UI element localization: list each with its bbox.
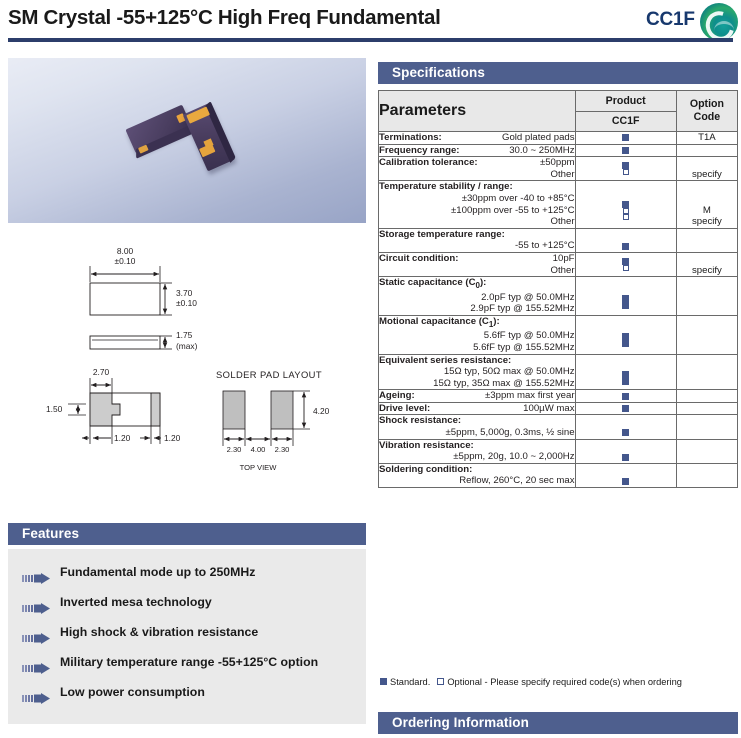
option-code-cell: [676, 415, 737, 439]
parameter-value: ±3ppm max first year: [485, 390, 575, 402]
arrow-bullet-icon: [22, 631, 52, 642]
parameter-label-line: Soldering condition:: [379, 464, 575, 476]
feature-item: Inverted mesa technology: [8, 593, 366, 622]
feature-item: Fundamental mode up to 250MHz: [8, 563, 366, 592]
option-code-cell: [676, 439, 737, 463]
option-code-cell: [676, 315, 737, 354]
option-code-cell: T1A: [676, 132, 737, 145]
parameter-cell: Vibration resistance:±5ppm, 20g, 10.0 ~ …: [379, 439, 576, 463]
col-header-product-variant: CC1F: [575, 111, 676, 132]
option-code-cell: Mspecify: [676, 181, 737, 228]
standard-mark-icon: [622, 302, 629, 309]
features-band: Features: [8, 523, 366, 545]
parameter-label-line: Drive level:100µW max: [379, 403, 575, 415]
option-code-cell: specify: [676, 157, 737, 181]
parameter-value: 10pF: [553, 253, 575, 265]
table-row: Circuit condition:10pFOther specify: [379, 252, 738, 276]
dim-thickness-note: (max): [176, 341, 198, 351]
feature-item: Low power consumption: [8, 683, 366, 712]
parameter-cell: Motional capacitance (C1):5.6fF typ @ 50…: [379, 315, 576, 354]
product-mark-cell: [575, 132, 676, 145]
product-mark-cell: [575, 390, 676, 403]
option-code-cell: specify: [676, 252, 737, 276]
optional-mark-icon: [437, 678, 444, 685]
dim-gap-1: 1.20: [114, 433, 131, 443]
product-mark-cell: [575, 315, 676, 354]
legend-standard-text: Standard.: [390, 677, 430, 687]
standard-mark-icon: [622, 147, 629, 154]
parameter-label: Drive level:: [379, 403, 430, 414]
parameter-label-line: Equivalent series resistance:: [379, 355, 575, 367]
parameter-label: Terminations:: [379, 132, 442, 143]
parameter-cell: Temperature stability / range:±30ppm ove…: [379, 181, 576, 228]
feature-item-label: Fundamental mode up to 250MHz: [60, 565, 255, 579]
dim-solder-pad-height: 4.20: [313, 406, 330, 416]
mark-spacer: [576, 231, 676, 243]
mark-spacer: [576, 189, 676, 201]
parameter-label: Ageing:: [379, 390, 415, 401]
ordering-information-band: Ordering Information: [378, 712, 738, 734]
feature-item-label: Inverted mesa technology: [60, 595, 212, 609]
mark-spacer: [576, 442, 676, 454]
parameter-sub-value: Other: [379, 169, 575, 181]
parameter-cell: Terminations:Gold plated pads: [379, 132, 576, 145]
parameter-label-line: Ageing:±3ppm max first year: [379, 390, 575, 402]
crystal-side-face: [136, 124, 193, 159]
col-header-option-code: Option Code: [676, 91, 737, 132]
parameter-cell: Frequency range:30.0 ~ 250MHz: [379, 144, 576, 157]
parameter-label-line: Motional capacitance (C1):: [379, 316, 575, 331]
option-code-value: T1A: [677, 132, 737, 144]
parameter-label-line: Temperature stability / range:: [379, 181, 575, 193]
dim-thickness-value: 1.75: [176, 330, 193, 340]
standard-mark-icon: [622, 243, 629, 250]
crystal-package-top: [125, 105, 192, 154]
option-code-value: specify: [677, 265, 737, 277]
part-code-label: CC1F: [646, 9, 695, 31]
dim-solder-pad-w1: 2.30: [227, 445, 242, 454]
parameter-label-line: Vibration resistance:: [379, 440, 575, 452]
product-mark-cell: [575, 402, 676, 415]
page-header: SM Crystal -55+125°C High Freq Fundament…: [0, 0, 741, 46]
solder-pad-view-note: TOP VIEW: [240, 463, 278, 472]
table-row: Shock resistance:±5ppm, 5,000g, 0.3ms, ½…: [379, 415, 738, 439]
table-row: Vibration resistance:±5ppm, 20g, 10.0 ~ …: [379, 439, 738, 463]
solder-pad-title: SOLDER PAD LAYOUT: [216, 369, 322, 380]
feature-item: High shock & vibration resistance: [8, 623, 366, 652]
standard-mark-icon: [622, 162, 629, 169]
standard-mark-icon: [622, 478, 629, 485]
parameter-cell: Static capacitance (C0):2.0pF typ @ 50.0…: [379, 277, 576, 316]
dim-gap-2: 1.20: [164, 433, 181, 443]
parameter-sub-value: 15Ω typ, 50Ω max @ 50.0MHz: [379, 366, 575, 378]
parameter-label: Motional capacitance (C1):: [379, 316, 500, 327]
gold-pad: [199, 143, 215, 157]
mark-spacer: [576, 283, 676, 295]
parameter-sub-value: -55 to +125°C: [379, 240, 575, 252]
option-code-cell: [676, 354, 737, 390]
arrow-bullet-icon: [22, 661, 52, 672]
product-mark-cell: [575, 157, 676, 181]
parameter-sub-value: ±100ppm over -55 to +125°C: [379, 205, 575, 217]
table-row: Motional capacitance (C1):5.6fF typ @ 50…: [379, 315, 738, 354]
standard-mark-icon: [622, 295, 629, 302]
option-code-cell: [676, 402, 737, 415]
option-code-line2: Code: [694, 111, 720, 123]
option-code-value: [677, 253, 737, 265]
option-code-cell: [676, 277, 737, 316]
optional-mark-icon: [623, 265, 629, 271]
option-code-cell: [676, 144, 737, 157]
parameter-label-line: Storage temperature range:: [379, 229, 575, 241]
parameter-sub-value: 5.6fF typ @ 50.0MHz: [379, 330, 575, 342]
table-row: Ageing:±3ppm max first year: [379, 390, 738, 403]
parameter-sub-value: ±5ppm, 20g, 10.0 ~ 2,000Hz: [379, 451, 575, 463]
feature-item-label: High shock & vibration resistance: [60, 625, 258, 639]
legend-optional-text: Optional - Please specify required code(…: [447, 677, 682, 687]
option-code-value: specify: [677, 169, 737, 181]
mark-spacer: [576, 466, 676, 478]
parameter-sub-value: Other: [379, 216, 575, 228]
product-mark-cell: [575, 277, 676, 316]
parameter-value: ±50ppm: [540, 157, 575, 169]
dim-solder-pad-w2: 2.30: [275, 445, 290, 454]
parameter-sub-value: 15Ω typ, 35Ω max @ 155.52MHz: [379, 378, 575, 390]
page-title: SM Crystal -55+125°C High Freq Fundament…: [8, 6, 440, 30]
table-row: Frequency range:30.0 ~ 250MHz: [379, 144, 738, 157]
product-mark-cell: [575, 252, 676, 276]
parameter-label-line: Static capacitance (C0):: [379, 277, 575, 292]
standard-mark-icon: [380, 678, 387, 685]
feature-item-label: Low power consumption: [60, 685, 205, 699]
option-code-value: [677, 181, 737, 193]
company-logo-icon: [700, 3, 738, 41]
specifications-band: Specifications: [378, 62, 738, 84]
parameter-label: Storage temperature range:: [379, 229, 505, 240]
product-mark-cell: [575, 439, 676, 463]
table-row: Terminations:Gold plated padsT1A: [379, 132, 738, 145]
feature-item: Military temperature range -55+125°C opt…: [8, 653, 366, 682]
parameter-label: Shock resistance:: [379, 415, 461, 426]
dim-solder-pad-gap: 4.00: [251, 445, 266, 454]
parameter-sub-value: Other: [379, 265, 575, 277]
table-row: Temperature stability / range:±30ppm ove…: [379, 181, 738, 228]
optional-mark-icon: [623, 214, 629, 220]
option-code-value: specify: [677, 216, 737, 228]
parameter-label: Static capacitance (C0):: [379, 277, 486, 288]
parameter-value: Gold plated pads: [502, 132, 575, 144]
parameter-label: Calibration tolerance:: [379, 157, 478, 168]
parameter-sub-value: ±30ppm over -40 to +85°C: [379, 193, 575, 205]
product-mark-cell: [575, 463, 676, 487]
parameter-cell: Circuit condition:10pFOther: [379, 252, 576, 276]
parameter-label-line: Calibration tolerance:±50ppm: [379, 157, 575, 169]
parameter-label: Temperature stability / range:: [379, 181, 513, 192]
header-divider: [8, 38, 733, 42]
dim-width-tol: ±0.10: [115, 256, 136, 266]
standard-mark-icon: [622, 393, 629, 400]
standard-mark-icon: [622, 333, 629, 340]
standard-mark-icon: [622, 454, 629, 461]
option-code-cell: [676, 463, 737, 487]
parameter-label-line: Shock resistance:: [379, 415, 575, 427]
product-mark-cell: [575, 415, 676, 439]
dim-pad-height: 1.50: [46, 404, 63, 414]
mark-spacer: [576, 322, 676, 334]
dim-pad-len: 2.70: [93, 367, 110, 377]
parameter-label: Equivalent series resistance:: [379, 355, 511, 366]
parameter-sub-value: 2.0pF typ @ 50.0MHz: [379, 292, 575, 304]
parameter-label-line: Frequency range:30.0 ~ 250MHz: [379, 145, 575, 157]
parameter-cell: Calibration tolerance:±50ppmOther: [379, 157, 576, 181]
parameter-cell: Shock resistance:±5ppm, 5,000g, 0.3ms, ½…: [379, 415, 576, 439]
parameter-sub-value: Reflow, 260°C, 20 sec max: [379, 475, 575, 487]
mechanical-drawing: 8.00 ±0.10 3.70 ±0.10 1.75 (max) 2.70 1.…: [8, 228, 366, 508]
parameter-sub-value: 2.9pF typ @ 155.52MHz: [379, 303, 575, 315]
specifications-table: Parameters Product Option Code CC1F Term…: [378, 90, 738, 488]
product-mark-cell: [575, 228, 676, 252]
parameter-label: Circuit condition:: [379, 253, 458, 264]
parameter-sub-value: ±5ppm, 5,000g, 0.3ms, ½ sine: [379, 427, 575, 439]
standard-mark-icon: [622, 405, 629, 412]
table-row: Calibration tolerance:±50ppmOther specif…: [379, 157, 738, 181]
table-header-row: Parameters Product Option Code: [379, 91, 738, 112]
features-list: Fundamental mode up to 250MHzInverted me…: [8, 549, 366, 724]
option-code-value: M: [677, 205, 737, 217]
optional-mark-icon: [623, 169, 629, 175]
parameter-cell: Ageing:±3ppm max first year: [379, 390, 576, 403]
table-row: Storage temperature range:-55 to +125°C: [379, 228, 738, 252]
col-header-product: Product: [575, 91, 676, 112]
product-mark-cell: [575, 354, 676, 390]
parameter-cell: Drive level:100µW max: [379, 402, 576, 415]
standard-mark-icon: [622, 378, 629, 385]
table-row: Static capacitance (C0):2.0pF typ @ 50.0…: [379, 277, 738, 316]
standard-mark-icon: [622, 258, 629, 265]
arrow-bullet-icon: [22, 601, 52, 612]
mark-spacer: [576, 359, 676, 371]
parameter-value: 100µW max: [523, 403, 574, 415]
product-mark-cell: [575, 181, 676, 228]
parameter-cell: Storage temperature range:-55 to +125°C: [379, 228, 576, 252]
table-legend: Standard.Optional - Please specify requi…: [380, 677, 740, 687]
option-code-value: [677, 157, 737, 169]
option-code-cell: [676, 228, 737, 252]
parameter-label-line: Circuit condition:10pF: [379, 253, 575, 265]
standard-mark-icon: [622, 429, 629, 436]
dim-height-tol: ±0.10: [176, 298, 197, 308]
option-code-line1: Option: [690, 98, 724, 110]
parameter-sub-value: 5.6fF typ @ 155.52MHz: [379, 342, 575, 354]
mark-spacer: [576, 418, 676, 430]
col-header-parameters: Parameters: [379, 91, 576, 132]
parameter-value: 30.0 ~ 250MHz: [509, 145, 574, 157]
parameter-label: Vibration resistance:: [379, 440, 474, 451]
standard-mark-icon: [622, 340, 629, 347]
product-mark-cell: [575, 144, 676, 157]
option-code-cell: [676, 390, 737, 403]
parameter-cell: Equivalent series resistance:15Ω typ, 50…: [379, 354, 576, 390]
parameter-cell: Soldering condition:Reflow, 260°C, 20 se…: [379, 463, 576, 487]
standard-mark-icon: [622, 134, 629, 141]
parameter-label: Frequency range:: [379, 145, 460, 156]
standard-mark-icon: [622, 371, 629, 378]
feature-item-label: Military temperature range -55+125°C opt…: [60, 655, 318, 669]
arrow-bullet-icon: [22, 571, 52, 582]
dim-height-value: 3.70: [176, 288, 193, 298]
option-code-value: [677, 193, 737, 205]
product-photo: [8, 58, 366, 223]
crystal-package-bottom: [183, 103, 236, 172]
parameter-label: Soldering condition:: [379, 464, 472, 475]
dim-width-value: 8.00: [117, 246, 134, 256]
table-row: Soldering condition:Reflow, 260°C, 20 se…: [379, 463, 738, 487]
arrow-bullet-icon: [22, 691, 52, 702]
table-row: Drive level:100µW max: [379, 402, 738, 415]
standard-mark-icon: [622, 201, 629, 208]
table-row: Equivalent series resistance:15Ω typ, 50…: [379, 354, 738, 390]
gold-pad: [186, 106, 210, 123]
parameter-label-line: Terminations:Gold plated pads: [379, 132, 575, 144]
